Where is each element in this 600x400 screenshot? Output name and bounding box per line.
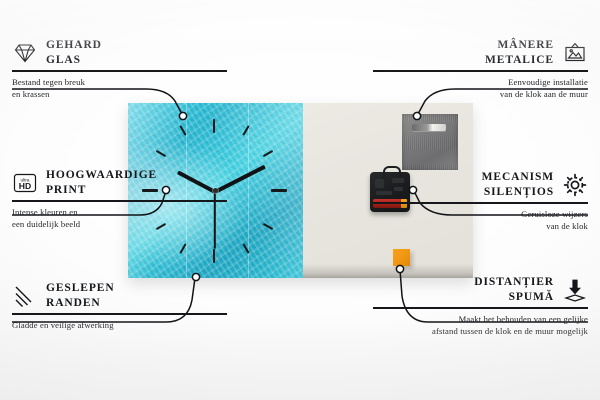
diamond-icon xyxy=(12,40,38,66)
feature-title-line1: HOOGWAARDIGE xyxy=(46,169,157,181)
feature-geslepen-randen: GESLEPEN RANDEN Gladde en veilige afwerk… xyxy=(12,281,227,331)
feature-title-line2: RANDEN xyxy=(46,297,101,309)
feature-title-line2: SILENȚIOS xyxy=(484,186,554,198)
feature-desc-line1: Geruisloze wijzers xyxy=(521,209,588,219)
divider xyxy=(12,200,227,201)
feature-title-line2: SPUMĂ xyxy=(509,291,554,303)
foam-spacer xyxy=(393,249,410,266)
feature-desc-line1: Eenvoudige installatie xyxy=(508,77,588,87)
feature-distantier-spuma: DISTANȚIER SPUMĂ Maakt het behouden van … xyxy=(373,275,588,337)
divider xyxy=(12,70,227,71)
hd-label: HD xyxy=(19,181,31,191)
feature-title-line1: MÂNERE xyxy=(497,39,554,51)
divider xyxy=(12,313,227,314)
beveled-edges-icon xyxy=(12,283,38,309)
infographic-canvas: GEHARD GLAS Bestand tegen breuk en krass… xyxy=(0,0,600,400)
feature-desc-line1: Gladde en veilige afwerking xyxy=(12,320,114,330)
feature-manere-metalice: MÂNERE METALICE Eenvoudige installatie v… xyxy=(373,38,588,100)
wall-mount-frame-icon xyxy=(562,40,588,66)
feature-title-line1: GESLEPEN xyxy=(46,282,115,294)
feature-title-line1: MECANISM xyxy=(482,171,554,183)
clock-tick xyxy=(213,249,215,263)
divider xyxy=(373,307,588,308)
feature-title-line1: DISTANȚIER xyxy=(474,276,554,288)
clock-tick xyxy=(271,189,287,192)
feature-desc-line1: Intense kleuren en xyxy=(12,207,78,217)
feature-desc-line2: van de klok xyxy=(546,221,588,231)
feature-desc-line2: afstand tussen de klok en de muur mogeli… xyxy=(432,326,588,336)
feature-gehard-glas: GEHARD GLAS Bestand tegen breuk en krass… xyxy=(12,38,227,100)
ultra-hd-icon: ultra HD xyxy=(12,170,38,196)
feature-desc-line1: Bestand tegen breuk xyxy=(12,77,85,87)
feature-hoogwaardige-print: ultra HD HOOGWAARDIGE PRINT Intense kleu… xyxy=(12,168,227,230)
divider xyxy=(373,70,588,71)
clock-tick xyxy=(213,119,215,133)
spacer-arrow-icon xyxy=(562,277,588,303)
feature-title-line1: GEHARD xyxy=(46,39,102,51)
divider xyxy=(373,202,588,203)
feature-desc-line2: van de klok aan de muur xyxy=(500,89,588,99)
feature-desc-line1: Maakt het behouden van een gelijke xyxy=(459,314,588,324)
feature-mecanism-silentios: MECANISM SILENȚIOS Geruisloze wijzer xyxy=(373,170,588,232)
feature-title-line2: GLAS xyxy=(46,54,81,66)
metal-hanger-plate xyxy=(402,114,458,170)
feature-title-line2: PRINT xyxy=(46,184,86,196)
feature-title-line2: METALICE xyxy=(485,54,554,66)
gear-icon xyxy=(562,172,588,198)
feature-desc-line2: en krassen xyxy=(12,89,50,99)
feature-desc-line2: een duidelijk beeld xyxy=(12,219,80,229)
